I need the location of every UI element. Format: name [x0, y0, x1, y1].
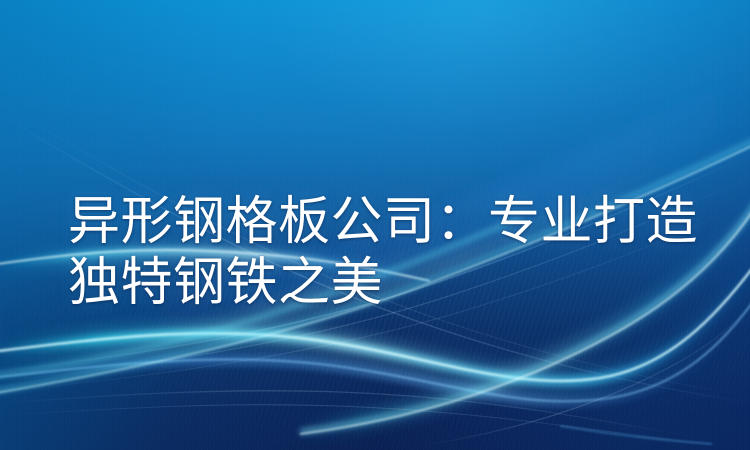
banner-image: 异形钢格板公司：专业打造独特钢铁之美: [0, 0, 750, 450]
light-wave-graphic: [0, 0, 750, 450]
